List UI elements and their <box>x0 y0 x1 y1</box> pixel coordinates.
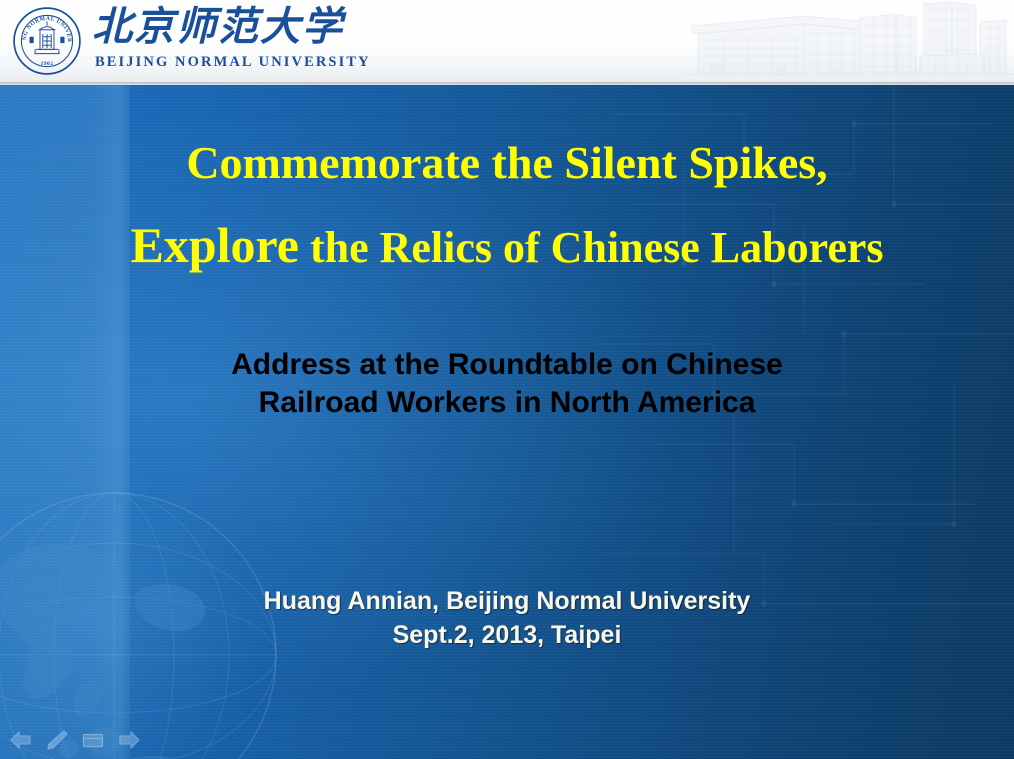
title-line-2: Explore the Relics of Chinese Laborers <box>0 220 1014 270</box>
slide-subtitle: Address at the Roundtable on Chinese Rai… <box>0 346 1014 421</box>
author-date-line: Sept.2, 2013, Taipei <box>0 619 1014 653</box>
slide-title: Commemorate the Silent Spikes, Explore t… <box>0 140 1014 270</box>
slide-header-banner: BEIJING NORMAL UNIVERSITY 1902 北京师范大学 B <box>0 0 1014 84</box>
subtitle-line-1: Address at the Roundtable on Chinese <box>0 346 1014 384</box>
subtitle-line-2: Railroad Workers in North America <box>0 384 1014 422</box>
slideshow-navigation-bar[interactable] <box>8 727 142 753</box>
slide-author-block: Huang Annian, Beijing Normal University … <box>0 585 1014 653</box>
title-line-2-lead: Explore <box>130 217 299 273</box>
title-line-1: Commemorate the Silent Spikes, <box>0 140 1014 186</box>
header-divider <box>0 82 1014 85</box>
university-seal-icon: BEIJING NORMAL UNIVERSITY 1902 <box>12 6 82 76</box>
university-chinese-name: 北京师范大学 <box>92 4 344 52</box>
arrow-right-icon[interactable] <box>116 727 142 753</box>
presentation-slide: BEIJING NORMAL UNIVERSITY 1902 北京师范大学 B <box>0 0 1014 759</box>
previous-slide-button[interactable] <box>8 727 34 753</box>
arrow-left-icon[interactable] <box>8 727 34 753</box>
window-icon[interactable] <box>80 727 106 753</box>
pen-tool-button[interactable] <box>44 727 70 753</box>
campus-building-watermark-icon <box>684 0 1014 84</box>
title-line-2-rest: the Relics of Chinese Laborers <box>299 223 884 272</box>
svg-text:1902: 1902 <box>41 61 54 67</box>
university-english-name: BEIJING NORMAL UNIVERSITY <box>95 54 371 71</box>
next-slide-button[interactable] <box>116 727 142 753</box>
slide-menu-button[interactable] <box>80 727 106 753</box>
pen-icon[interactable] <box>44 727 70 753</box>
author-name-line: Huang Annian, Beijing Normal University <box>0 585 1014 619</box>
